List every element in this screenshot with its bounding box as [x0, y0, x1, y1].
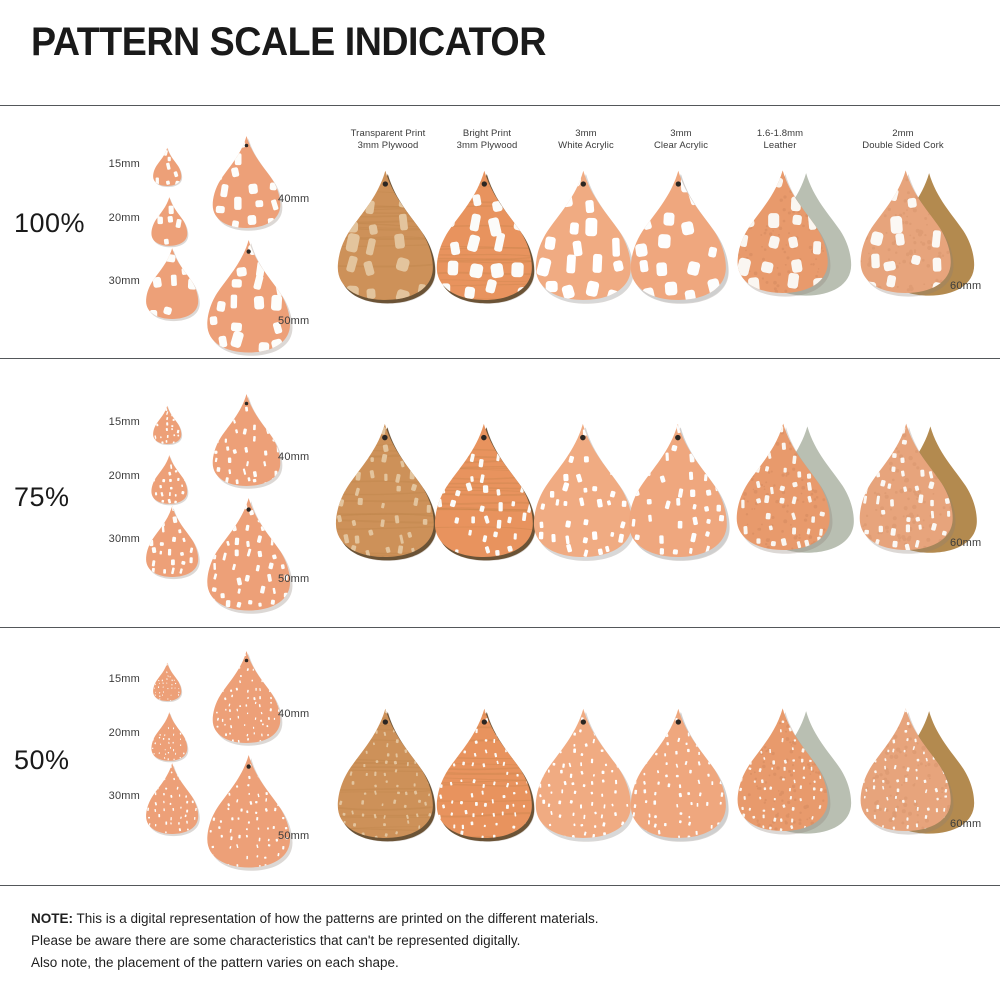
pattern-scale-indicator-page: PATTERN SCALE INDICATOR Transparent Prin… — [0, 0, 1000, 1000]
reference-teardrop-15mm — [152, 661, 192, 707]
page-title: PATTERN SCALE INDICATOR — [31, 22, 546, 62]
reference-teardrop-50mm — [204, 493, 322, 627]
note-bold-prefix: NOTE: — [31, 911, 73, 926]
scale-label: 75% — [14, 482, 70, 513]
note-line-2: Please be aware there are some character… — [31, 930, 599, 952]
reference-size-label: 40mm — [278, 193, 309, 205]
reference-size-label: 50mm — [278, 315, 309, 327]
reference-size-label: 30mm — [0, 275, 140, 287]
note-block: NOTE: This is a digital representation o… — [31, 908, 599, 974]
reference-size-label: 50mm — [278, 830, 309, 842]
reference-teardrop-50mm — [204, 235, 322, 369]
material-shape-leather — [734, 703, 863, 849]
reference-teardrop-40mm — [210, 647, 306, 757]
reference-size-label: 20mm — [0, 470, 140, 482]
divider-row-100 — [0, 358, 1000, 359]
column-header-line1: 2mm — [823, 128, 983, 140]
material-shape-leather — [734, 165, 863, 311]
reference-size-label: 50mm — [278, 573, 309, 585]
reference-size-label: 20mm — [0, 727, 140, 739]
column-header-line2: Double Sided Cork — [823, 140, 983, 152]
reference-size-label: 30mm — [0, 790, 140, 802]
reference-teardrop-40mm — [210, 390, 306, 500]
divider-row-50 — [0, 885, 1000, 886]
reference-teardrop-50mm — [204, 750, 322, 884]
reference-teardrop-15mm — [152, 146, 192, 192]
note-line-1: NOTE: This is a digital representation o… — [31, 908, 599, 930]
reference-size-label: 40mm — [278, 708, 309, 720]
note-line-3: Also note, the placement of the pattern … — [31, 952, 599, 974]
note-line-1-text: This is a digital representation of how … — [73, 911, 599, 926]
reference-teardrop-15mm — [152, 404, 192, 450]
reference-size-label: 20mm — [0, 212, 140, 224]
column-header-cork: 2mmDouble Sided Cork — [823, 128, 983, 152]
material-size-label: 60mm — [950, 280, 981, 292]
reference-teardrop-40mm — [210, 132, 306, 242]
scale-label: 50% — [14, 745, 70, 776]
reference-size-label: 40mm — [278, 451, 309, 463]
material-shape-leather — [733, 418, 865, 570]
reference-size-label: 15mm — [0, 673, 140, 685]
reference-size-label: 15mm — [0, 416, 140, 428]
divider-top — [0, 105, 1000, 106]
divider-row-75 — [0, 627, 1000, 628]
reference-size-label: 15mm — [0, 158, 140, 170]
material-size-label: 60mm — [950, 818, 981, 830]
material-size-label: 60mm — [950, 537, 981, 549]
reference-size-label: 30mm — [0, 533, 140, 545]
